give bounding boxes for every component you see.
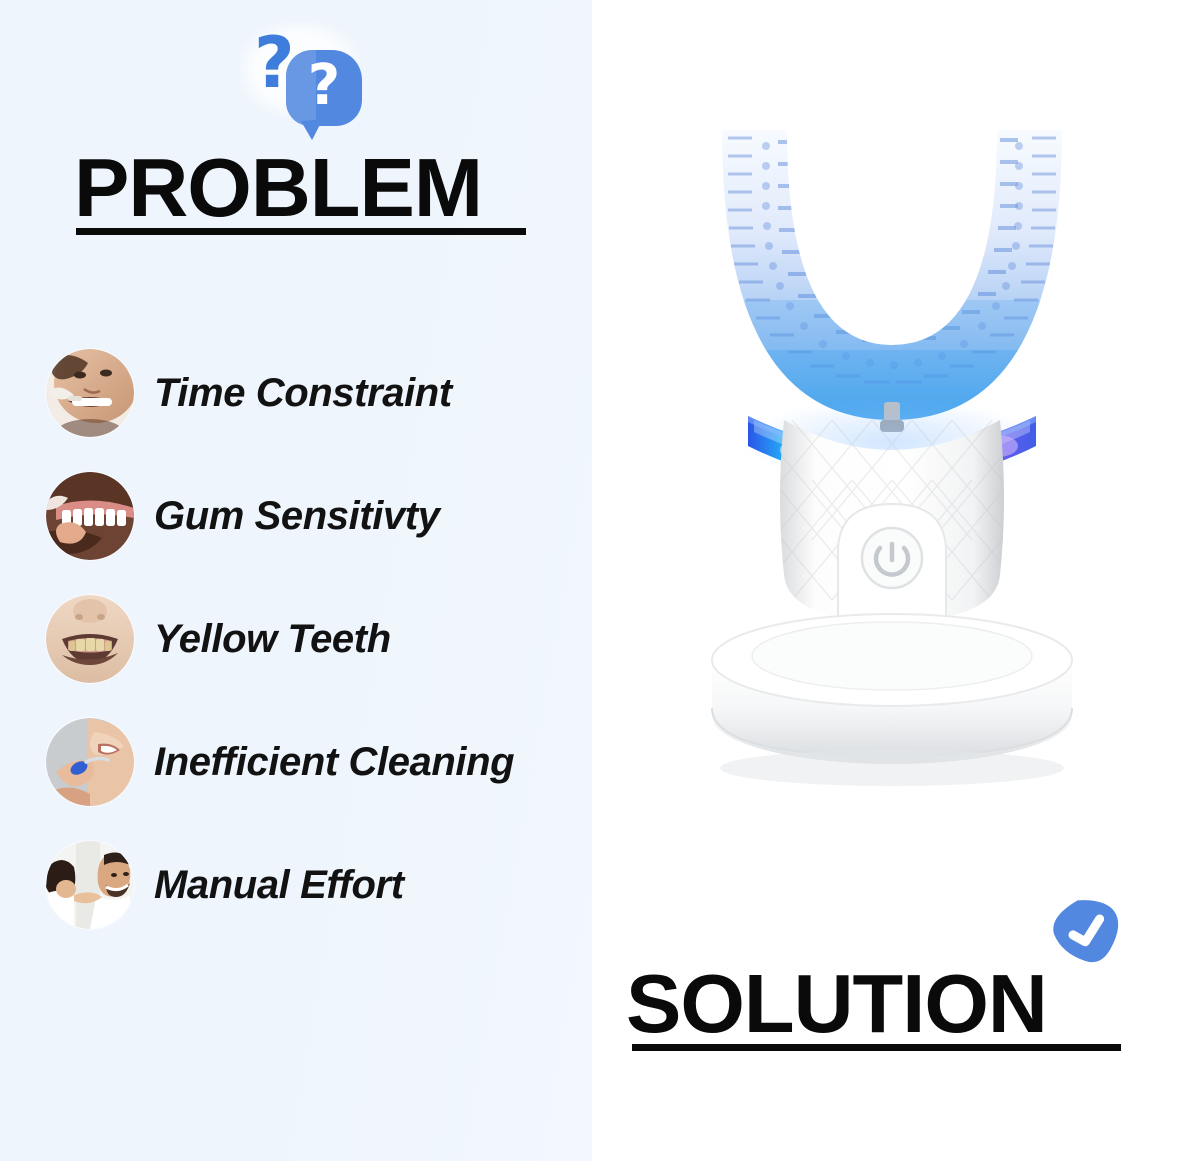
list-item-label: Inefficient Cleaning: [154, 740, 514, 785]
man-at-mirror-photo: [46, 841, 134, 929]
problem-heading-underline: [76, 228, 526, 235]
list-item-label: Manual Effort: [154, 863, 404, 908]
problem-heading: PROBLEM: [74, 146, 482, 229]
solution-heading: SOLUTION: [626, 962, 1047, 1045]
list-item-label: Yellow Teeth: [154, 617, 391, 662]
solution-heading-underline: [632, 1044, 1121, 1051]
blue-check-shield-icon: [1047, 893, 1127, 973]
gum-closeup-photo: [46, 472, 134, 560]
list-item: Manual Effort: [46, 840, 586, 930]
problem-list: Time Constraint: [46, 348, 586, 963]
man-brushing-teeth-photo: [46, 349, 134, 437]
question-mark-glyph: ?: [286, 50, 362, 126]
problem-panel: ? ? PROBLEM: [0, 0, 592, 1161]
list-item: Yellow Teeth: [46, 594, 586, 684]
list-item-label: Time Constraint: [154, 371, 452, 416]
list-item: Inefficient Cleaning: [46, 717, 586, 807]
u-shaped-silicone-brush-head: [722, 130, 1062, 432]
question-mark-bubble-icon: ? ?: [232, 22, 382, 152]
list-item: Gum Sensitivty: [46, 471, 586, 561]
list-item: Time Constraint: [46, 348, 586, 438]
u-shaped-electric-toothbrush: [692, 120, 1092, 800]
list-item-label: Gum Sensitivty: [154, 494, 440, 539]
yellow-teeth-photo: [46, 595, 134, 683]
charging-base: [712, 614, 1072, 786]
power-button: [838, 504, 946, 624]
solution-panel: SOLUTION: [592, 0, 1179, 1161]
page-root: ? ? PROBLEM: [0, 0, 1179, 1161]
speech-bubble-shape: ?: [286, 50, 362, 126]
flossing-photo: [46, 718, 134, 806]
